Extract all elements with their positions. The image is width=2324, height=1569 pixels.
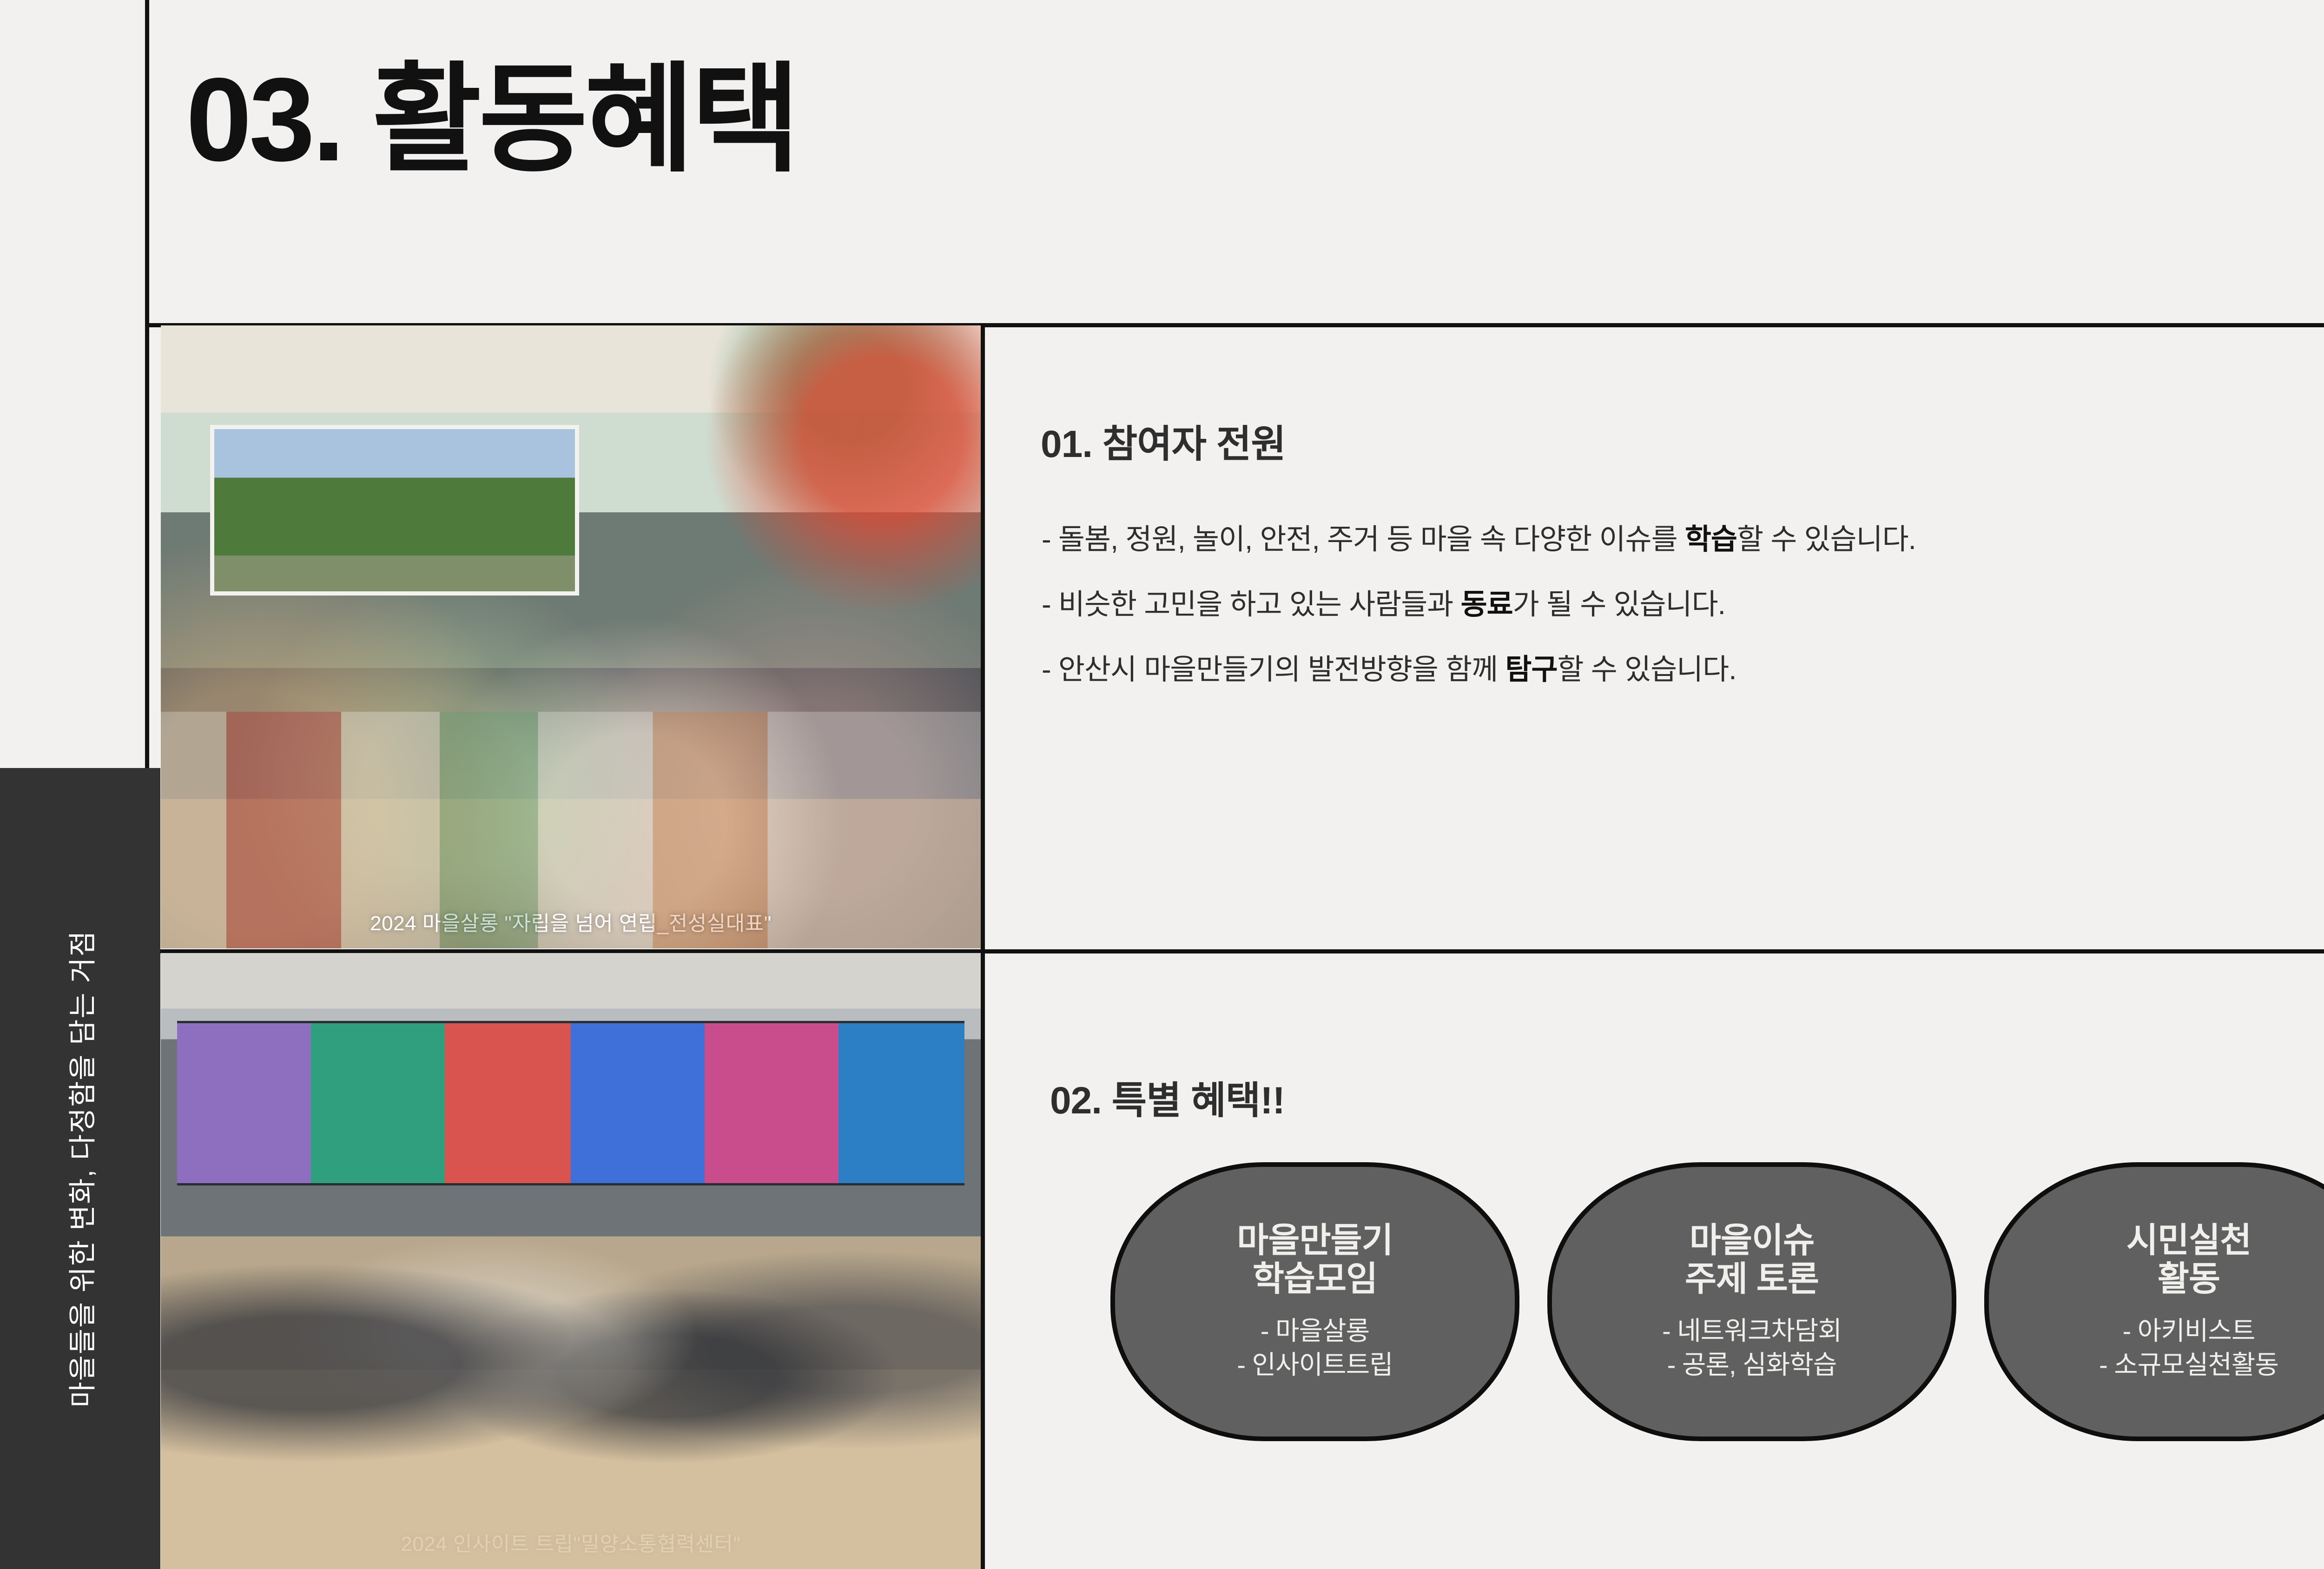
sidebar-tagline-panel: 마을들을 위한 변화, 다정함을 담는 거점 (0, 768, 160, 1569)
list-item: - 돌봄, 정원, 놀이, 안전, 주거 등 마을 속 다양한 이슈를 학습할 … (1042, 525, 2324, 554)
bullet-text-post: 가 될 수 있습니다. (1513, 589, 1725, 621)
badge-item-list: - 네트워크차담회 - 공론, 심화학습 (1662, 1314, 1842, 1382)
badge-item: - 인사이트트립 (1237, 1348, 1393, 1382)
badge-title: 마을만들기 학습모임 (1237, 1221, 1393, 1298)
photo-caption: 2024 마을살롱 "자립을 넘어 연립_전성실대표" (161, 907, 981, 936)
bullet-text-pre: - 안산시 마을만들기의 발전방향을 함께 (1042, 654, 1505, 686)
badge-village-issue-discussion[interactable]: 마을이슈 주제 토론 - 네트워크차담회 - 공론, 심화학습 (1547, 1162, 1956, 1441)
header: 03. 활동혜택 (145, 0, 2324, 325)
photo-group-portrait: 2024 마을살롱 "자립을 넘어 연립_전성실대표" (161, 325, 981, 948)
badge-title: 마을이슈 주제 토론 (1685, 1221, 1819, 1298)
list-item: - 안산시 마을만들기의 발전방향을 함께 탐구할 수 있습니다. (1042, 655, 2324, 684)
section-heading: 02. 특별 혜택!! (1050, 1069, 1285, 1125)
rule-vertical-center (981, 325, 985, 1569)
badge-village-making-study[interactable]: 마을만들기 학습모임 - 마을살롱 - 인사이트트립 (1110, 1162, 1519, 1441)
photo-workshop-meeting: 2024 인사이트 트립"밀양소통협력센터" (161, 953, 981, 1569)
badge-item: - 네트워크차담회 (1662, 1314, 1842, 1348)
bullet-text-pre: - 돌봄, 정원, 놀이, 안전, 주거 등 마을 속 다양한 이슈를 (1042, 523, 1685, 556)
badge-item: - 공론, 심화학습 (1662, 1348, 1842, 1382)
sidebar-tagline: 마을들을 위한 변화, 다정함을 담는 거점 (60, 930, 100, 1407)
bullet-text-post: 할 수 있습니다. (1737, 523, 1916, 556)
badge-item-list: - 아키비스트 - 소규모실천활동 (2099, 1314, 2278, 1382)
bullet-text-emphasis: 탐구 (1505, 654, 1557, 686)
badge-title: 시민실천 활동 (2126, 1221, 2251, 1298)
bullet-text-emphasis: 동료 (1461, 589, 1513, 621)
section-participants: 01. 참여자 전원 - 돌봄, 정원, 놀이, 안전, 주거 등 마을 속 다… (985, 325, 2324, 948)
bullet-text-post: 할 수 있습니다. (1558, 654, 1736, 686)
badge-item: - 마을살롱 (1237, 1314, 1393, 1348)
badge-citizen-action[interactable]: 시민실천 활동 - 아키비스트 - 소규모실천활동 (1984, 1162, 2324, 1441)
list-item: - 비슷한 고민을 하고 있는 사람들과 동료가 될 수 있습니다. (1042, 590, 2324, 619)
badge-item: - 소규모실천활동 (2099, 1348, 2278, 1382)
bullet-text-emphasis: 학습 (1685, 523, 1737, 556)
section-heading: 01. 참여자 전원 (1041, 413, 1286, 468)
section-special-benefits: 02. 특별 혜택!! 마을만들기 학습모임 - 마을살롱 - 인사이트트립 마… (985, 953, 2324, 1569)
badge-item-list: - 마을살롱 - 인사이트트립 (1237, 1314, 1393, 1382)
benefit-list: - 돌봄, 정원, 놀이, 안전, 주거 등 마을 속 다양한 이슈를 학습할 … (1042, 525, 2324, 721)
slide-root: 03. 활동혜택 마을들을 위한 변화, 다정함을 담는 거점 2024 마을살… (0, 0, 2324, 1569)
photo-caption: 2024 인사이트 트립"밀양소통협력센터" (161, 1527, 981, 1557)
benefit-badge-group: 마을만들기 학습모임 - 마을살롱 - 인사이트트립 마을이슈 주제 토론 - … (1110, 1162, 2324, 1441)
badge-item: - 아키비스트 (2099, 1314, 2278, 1348)
page-title: 03. 활동혜택 (186, 60, 798, 179)
bullet-text-pre: - 비슷한 고민을 하고 있는 사람들과 (1042, 589, 1461, 621)
